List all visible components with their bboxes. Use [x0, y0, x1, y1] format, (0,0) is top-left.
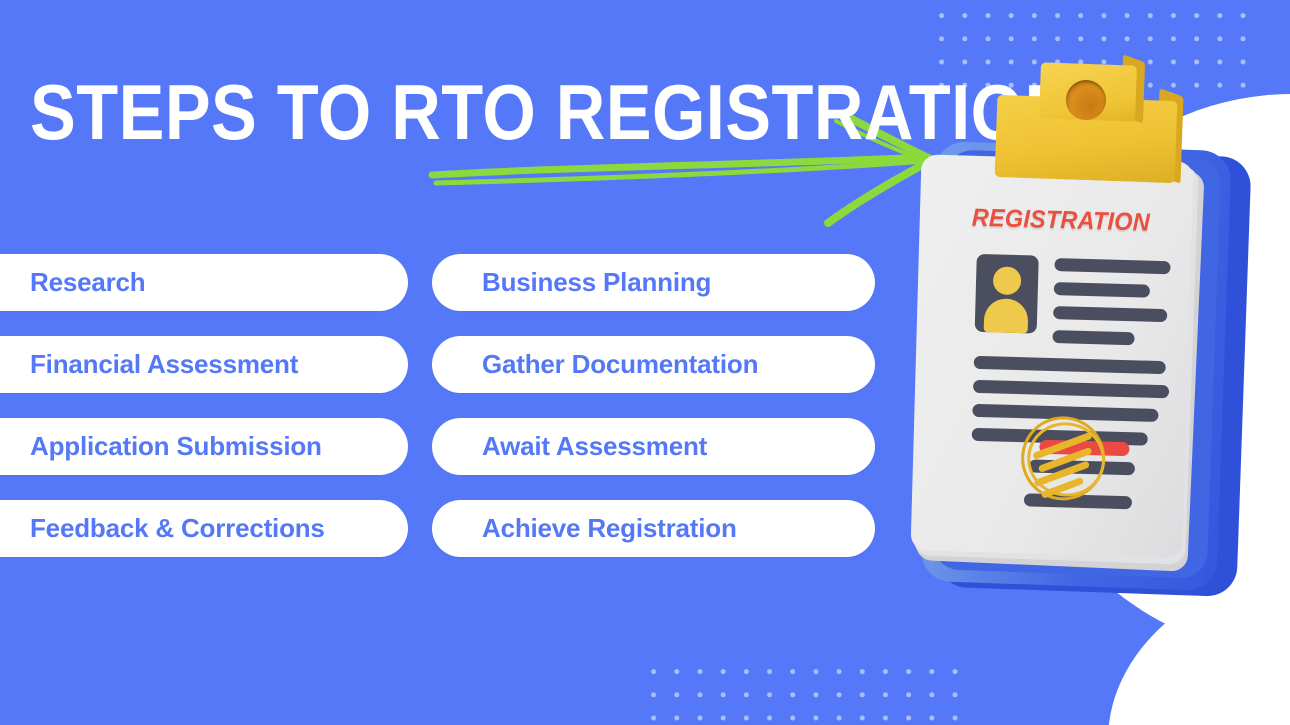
infographic-canvas: Steps to RTO Registration Research Finan… — [0, 0, 1290, 725]
form-text-line — [1054, 258, 1170, 274]
step-label: Await Assessment — [482, 431, 707, 462]
form-text-line — [1054, 282, 1150, 298]
avatar-head-icon — [993, 266, 1022, 295]
form-text-line — [973, 380, 1169, 398]
steps-column-right: Business Planning Gather Documentation A… — [432, 254, 875, 582]
form-text-line — [1053, 306, 1167, 322]
step-pill-business-planning[interactable]: Business Planning — [432, 254, 875, 311]
form-page: REGISTRATION — [911, 154, 1194, 557]
form-text-line — [974, 356, 1166, 374]
blue-foreground-block — [0, 585, 660, 725]
form-text-line — [1052, 330, 1134, 345]
step-pill-feedback-corrections[interactable]: Feedback & Corrections — [0, 500, 408, 557]
step-pill-financial-assessment[interactable]: Financial Assessment — [0, 336, 408, 393]
step-label: Financial Assessment — [30, 349, 298, 380]
step-label: Application Submission — [30, 431, 322, 462]
form-heading: REGISTRATION — [971, 204, 1150, 238]
step-label: Gather Documentation — [482, 349, 758, 380]
step-pill-application-submission[interactable]: Application Submission — [0, 418, 408, 475]
step-pill-gather-documentation[interactable]: Gather Documentation — [432, 336, 875, 393]
step-pill-achieve-registration[interactable]: Achieve Registration — [432, 500, 875, 557]
step-pill-research[interactable]: Research — [0, 254, 408, 311]
step-label: Business Planning — [482, 267, 711, 298]
clip-hole-icon — [1066, 80, 1106, 120]
avatar-body-icon — [984, 298, 1029, 333]
step-pill-await-assessment[interactable]: Await Assessment — [432, 418, 875, 475]
clipboard-illustration: REGISTRATION — [900, 70, 1260, 610]
step-label: Research — [30, 267, 145, 298]
step-label: Feedback & Corrections — [30, 513, 325, 544]
step-label: Achieve Registration — [482, 513, 737, 544]
dot-grid-bottom — [642, 660, 972, 725]
form-photo-box — [975, 254, 1039, 334]
steps-column-left: Research Financial Assessment Applicatio… — [0, 254, 408, 582]
